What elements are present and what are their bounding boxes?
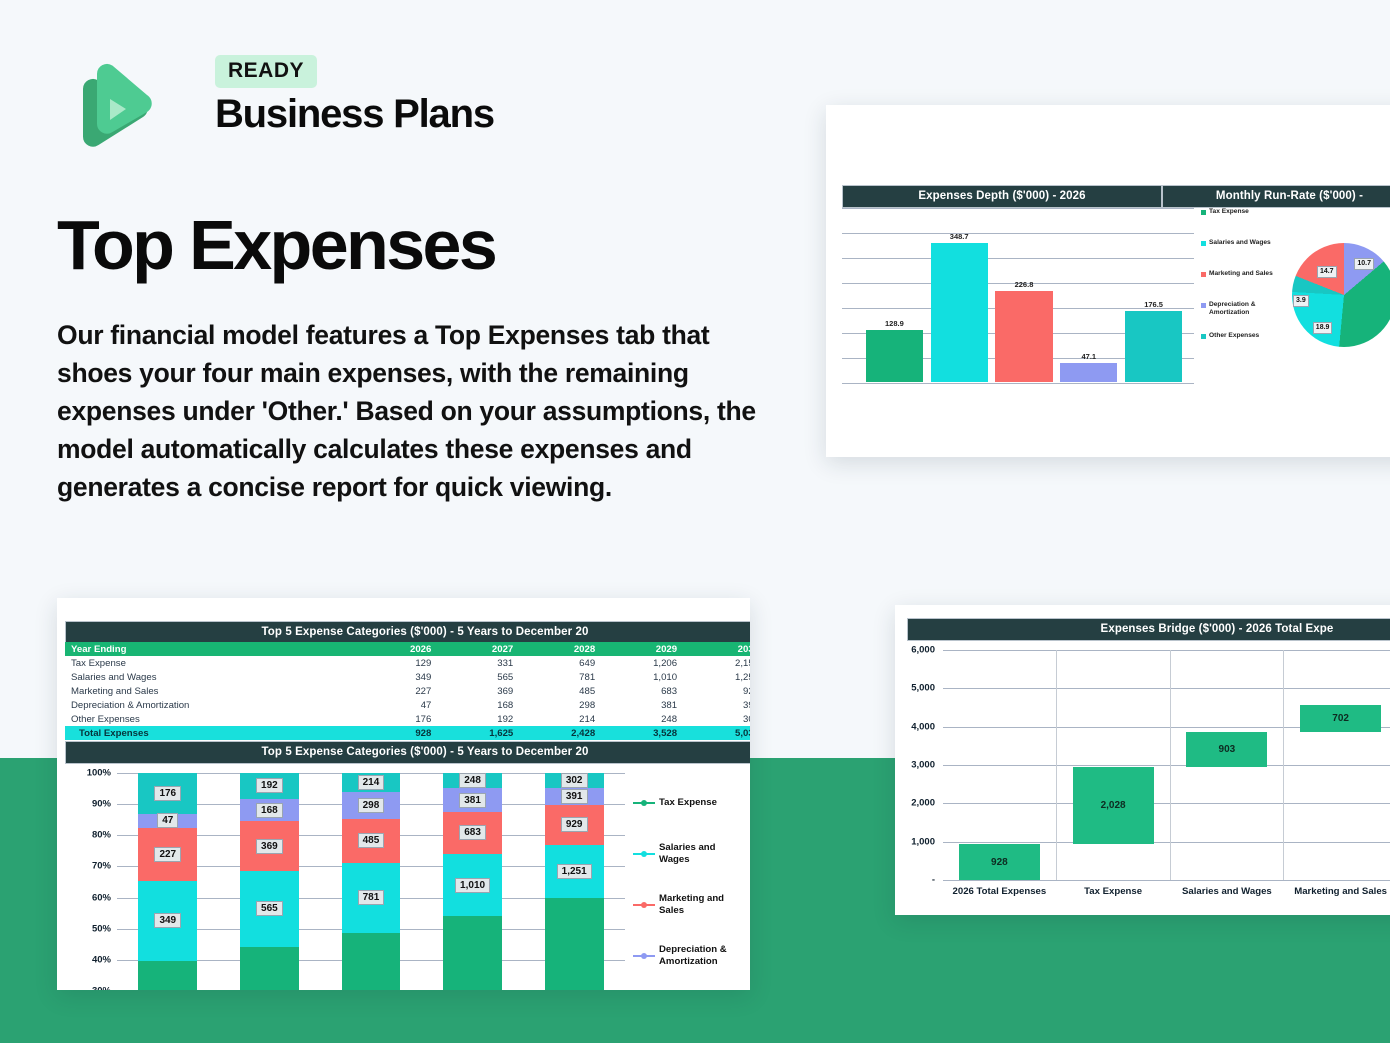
bar [931,243,988,382]
cell-value: 129 [362,656,438,670]
cell-value: 928 [362,726,438,740]
segment-value-label: 683 [459,825,486,840]
stack-segment [138,961,197,990]
segment-value-label: 298 [358,798,385,813]
bar [1125,311,1182,382]
y-axis-tick: 4,000 [911,721,935,732]
table-row: Depreciation & Amortization4716829838139… [65,698,750,712]
bar [995,291,1052,382]
segment-value-label: 349 [154,913,181,928]
column-header: 2030 [683,642,750,656]
bar [866,330,923,382]
row-label: Salaries and Wages [65,670,362,684]
bar-column: 226.8 [992,212,1057,382]
expenses-depth-title-row: Expenses Depth ($'000) - 2026 Monthly Ru… [842,185,1390,208]
y-axis-tick: - [932,875,935,886]
pie-value-label: 10.7 [1354,258,1374,270]
row-label: Depreciation & Amortization [65,698,362,712]
page-title: Top Expenses [57,205,495,285]
y-axis-tick: 60% [92,892,111,903]
legend-marker [633,853,655,855]
bar-series: 128.9348.7226.847.1176.5 [862,212,1186,382]
bar-column: 2483816831,010 [422,773,524,990]
stack-segment: 298 [342,792,401,819]
legend-label: Tax Expense [659,797,717,809]
top5-stacked-bar-plot: 1764722734919216836956521429848578124838… [117,773,683,990]
x-axis-label: Tax Expense [1057,886,1170,897]
legend-marker [633,802,655,804]
stack-segment: 248 [443,773,502,788]
segment-value-label: 1,010 [455,878,490,893]
cell-value: 1,251 [683,670,750,684]
column-header: Year Ending [65,642,362,656]
waterfall-column: 702Marketing and Sales [1284,650,1390,880]
bar-value-label: 226.8 [1015,280,1034,289]
stack-segment: 565 [240,871,299,947]
monthly-run-rate-pie-chart: 10.714.73.918.9 [1292,243,1390,347]
bar-column: 176.5 [1121,212,1186,382]
cell-value: 1,206 [601,656,683,670]
cell-value: 485 [519,684,601,698]
pie-value-label: 18.9 [1313,322,1333,334]
stack-segment: 214 [342,773,401,792]
waterfall-bar-series: 9282026 Total Expenses2,028Tax Expense90… [943,650,1390,880]
stack-segment: 302 [545,773,604,788]
segment-value-label: 1,251 [557,864,592,879]
segment-value-label: 214 [358,775,385,790]
cell-value: 349 [362,670,438,684]
stack-segment: 1,251 [545,845,604,899]
legend-item: Salaries and Wages [633,828,743,879]
cell-value: 369 [437,684,519,698]
legend-swatch [1201,303,1206,308]
ready-badge: READY [215,55,317,88]
top5-chart-title: Top 5 Expense Categories ($'000) - 5 Yea… [65,741,750,764]
legend-label: Salaries and Wages [1209,239,1271,247]
stack-segment [342,933,401,990]
stack-segment: 176 [138,773,197,814]
top5-expense-table: Year Ending20262027202820292030 Tax Expe… [65,642,750,740]
y-axis-tick: 30% [92,986,111,991]
segment-value-label: 369 [256,839,283,854]
y-axis-tick: 80% [92,830,111,841]
segment-value-label: 929 [561,817,588,832]
waterfall-column: 903Salaries and Wages [1171,650,1285,880]
cell-value: 5,030 [683,726,750,740]
expenses-depth-legend: Tax ExpenseSalaries and WagesMarketing a… [1201,208,1291,363]
row-label: Tax Expense [65,656,362,670]
pie-value-label: 3.9 [1293,295,1309,307]
stacked-bar: 3023919291,251 [545,773,604,990]
segment-value-label: 47 [157,813,178,828]
segment-value-label: 391 [561,789,588,804]
legend-marker [633,904,655,906]
cell-value: 2,157 [683,656,750,670]
column-header: 2027 [437,642,519,656]
waterfall-bar: 2,028 [1073,767,1154,845]
cell-value: 214 [519,712,601,726]
segment-value-label: 565 [256,901,283,916]
bar-column: 192168369565 [219,773,321,990]
stack-segment: 781 [342,863,401,933]
stack-segment [545,898,604,990]
segment-value-label: 381 [459,793,486,808]
bar-value-label: 2,028 [1101,800,1126,811]
top5-expense-categories-card: Top 5 Expense Categories ($'000) - 5 Yea… [57,598,750,990]
cell-value: 302 [683,712,750,726]
brand-text: READY Business Plans [215,55,494,137]
row-label: Marketing and Sales [65,684,362,698]
legend-label: Salaries and Wages [659,842,743,865]
monthly-run-rate-title: Monthly Run-Rate ($'000) - [1162,185,1390,208]
legend-swatch [1201,210,1206,215]
cell-value: 2,428 [519,726,601,740]
legend-item: Tax Expense [1201,208,1291,239]
legend-label: Marketing and Sales [659,893,743,916]
column-header: 2028 [519,642,601,656]
cell-value: 248 [601,712,683,726]
top5-table-title: Top 5 Expense Categories ($'000) - 5 Yea… [65,621,750,644]
cell-value: 331 [437,656,519,670]
page-description: Our financial model features a Top Expen… [57,316,757,506]
expenses-depth-title: Expenses Depth ($'000) - 2026 [842,185,1162,208]
legend-dot [641,953,647,959]
row-label: Total Expenses [65,726,362,740]
y-axis-tick: 2,000 [911,798,935,809]
legend-dot [641,902,647,908]
cell-value: 47 [362,698,438,712]
expenses-depth-plot: 128.9348.7226.847.1176.5 [842,208,1194,383]
stacked-bar: 192168369565 [240,773,299,990]
cell-value: 168 [437,698,519,712]
segment-value-label: 192 [256,778,283,793]
play-triangle-logo-icon [57,57,152,162]
stack-segment: 369 [240,821,299,871]
legend-label: Other Expenses [1209,332,1259,340]
legend-item: Salaries and Wages [1201,239,1291,270]
segment-value-label: 227 [154,847,181,862]
legend-label: Marketing and Sales [1209,270,1273,278]
stack-segment: 349 [138,881,197,962]
y-axis-tick: 1,000 [911,836,935,847]
table-body: Tax Expense1293316491,2062,157Salaries a… [65,656,750,740]
bar-column: 214298485781 [320,773,422,990]
bar-column: 47.1 [1056,212,1121,382]
y-axis-tick: 70% [92,861,111,872]
stack-segment: 168 [240,799,299,822]
cell-value: 381 [601,698,683,712]
cell-value: 1,010 [601,670,683,684]
total-row: Total Expenses9281,6252,4283,5285,030 [65,726,750,740]
bar-value-label: 348.7 [950,232,969,241]
bar-value-label: 903 [1219,744,1236,755]
pie-value-label: 14.7 [1317,266,1337,278]
bar-value-label: 702 [1332,713,1349,724]
expenses-bridge-title: Expenses Bridge ($'000) - 2026 Total Exp… [907,618,1390,641]
stack-segment: 391 [545,788,604,805]
cell-value: 683 [601,684,683,698]
x-axis-label: 2026 Total Expenses [943,886,1056,897]
bar-value-label: 128.9 [885,319,904,328]
cell-value: 3,528 [601,726,683,740]
cell-value: 1,625 [437,726,519,740]
table-row: Salaries and Wages3495657811,0101,251 [65,670,750,684]
brand-logo-block: READY Business Plans [57,55,487,165]
legend-label: Depreciation & Amortization [659,944,743,967]
segment-value-label: 248 [459,773,486,788]
waterfall-column: 9282026 Total Expenses [943,650,1057,880]
cell-value: 176 [362,712,438,726]
table-row: Tax Expense1293316491,2062,157 [65,656,750,670]
stacked-bar: 214298485781 [342,773,401,990]
segment-value-label: 781 [358,890,385,905]
bar-column: 3023919291,251 [523,773,625,990]
cell-value: 391 [683,698,750,712]
legend-swatch [1201,334,1206,339]
cell-value: 192 [437,712,519,726]
bar-value-label: 176.5 [1144,300,1163,309]
cell-value: 929 [683,684,750,698]
legend-item: Depreciation & Amortization [1201,301,1291,332]
y-axis-tick: 3,000 [911,760,935,771]
y-axis-tick: 40% [92,954,111,965]
bar-column: 348.7 [927,212,992,382]
expenses-depth-card: Expenses Depth ($'000) - 2026 Monthly Ru… [826,105,1390,457]
waterfall-bar: 702 [1300,705,1381,732]
segment-value-label: 168 [256,803,283,818]
table-row: Other Expenses176192214248302 [65,712,750,726]
top5-chart-legend: Tax ExpenseSalaries and WagesMarketing a… [633,777,743,981]
cell-value: 298 [519,698,601,712]
bar-value-label: 47.1 [1081,352,1096,361]
y-axis-tick: 100% [87,768,111,779]
legend-item: Marketing and Sales [633,879,743,930]
cell-value: 781 [519,670,601,684]
x-axis-label: Salaries and Wages [1171,886,1284,897]
table-header-row: Year Ending20262027202820292030 [65,642,750,656]
bar-value-label: 928 [991,857,1008,868]
grid-line [943,880,1390,881]
segment-value-label: 302 [561,773,588,788]
y-axis-tick: 5,000 [911,683,935,694]
y-axis-tick: 6,000 [911,645,935,656]
stacked-bar: 2483816831,010 [443,773,502,990]
stacked-bar-series: 1764722734919216836956521429848578124838… [117,773,625,990]
stack-segment [443,916,502,990]
bar-column: 17647227349 [117,773,219,990]
y-axis-tick: 90% [92,799,111,810]
legend-item: Marketing and Sales [1201,270,1291,301]
legend-dot [641,851,647,857]
bar [1060,363,1117,382]
legend-dot [641,800,647,806]
legend-item: Other Expenses [1201,332,1291,363]
legend-label: Depreciation & Amortization [1209,301,1291,317]
brand-name: Business Plans [215,92,494,137]
waterfall-bar: 928 [959,844,1040,880]
cell-value: 649 [519,656,601,670]
legend-item: Depreciation & Amortization [633,930,743,981]
stack-segment: 227 [138,828,197,880]
stack-segment: 47 [138,814,197,829]
stack-segment: 381 [443,788,502,812]
table-row: Marketing and Sales227369485683929 [65,684,750,698]
legend-swatch [1201,272,1206,277]
stack-segment: 683 [443,812,502,854]
row-label: Other Expenses [65,712,362,726]
column-header: 2026 [362,642,438,656]
legend-item: Tax Expense [633,777,743,828]
y-axis-tick: 50% [92,923,111,934]
legend-marker [633,955,655,957]
stack-segment: 485 [342,819,401,863]
waterfall-bar: 903 [1186,732,1267,767]
stack-segment: 1,010 [443,854,502,916]
cell-value: 227 [362,684,438,698]
waterfall-column: 2,028Tax Expense [1057,650,1171,880]
stack-segment: 929 [545,805,604,845]
segment-value-label: 176 [154,786,181,801]
legend-swatch [1201,241,1206,246]
x-axis-label: Marketing and Sales [1284,886,1390,897]
grid-line [842,383,1194,384]
legend-label: Tax Expense [1209,208,1249,216]
stack-segment: 192 [240,773,299,799]
grid-line [842,208,1194,209]
expenses-bridge-card: Expenses Bridge ($'000) - 2026 Total Exp… [895,605,1390,915]
stacked-bar: 17647227349 [138,773,197,990]
bar-column: 128.9 [862,212,927,382]
cell-value: 565 [437,670,519,684]
segment-value-label: 485 [358,833,385,848]
expenses-bridge-plot: 9282026 Total Expenses2,028Tax Expense90… [943,650,1390,880]
column-header: 2029 [601,642,683,656]
stack-segment [240,947,299,990]
